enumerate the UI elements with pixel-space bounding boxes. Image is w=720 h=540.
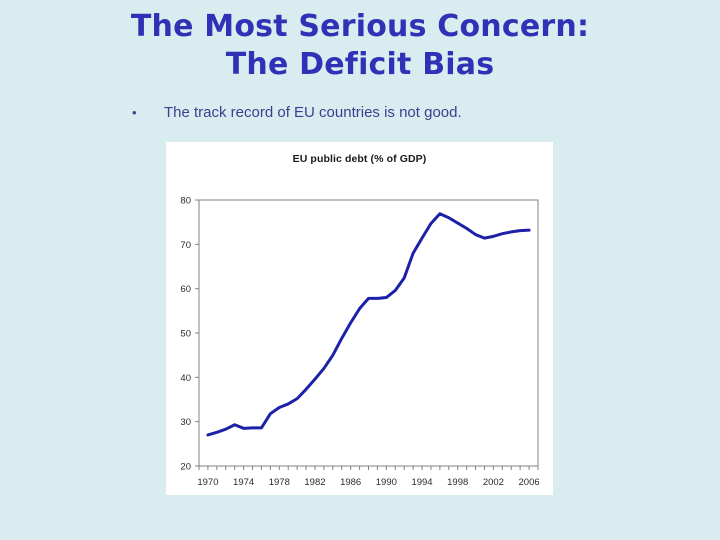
x-axis-tick-label: 1978 [269,477,290,488]
y-axis-tick-label: 60 [180,284,191,295]
data-series-line [208,214,529,435]
slide: The Most Serious Concern: The Deficit Bi… [0,0,720,540]
x-axis-tick-label: 1986 [340,477,361,488]
x-axis-tick-label: 1990 [376,477,397,488]
bullet-item-label: The track record of EU countries is not … [164,104,602,121]
y-axis-tick-label: 30 [180,417,191,428]
x-axis-tick-label: 1970 [197,477,218,488]
y-axis-tick-label: 50 [180,329,191,340]
line-chart-svg: 2030405060708019701974197819821986199019… [166,142,553,495]
y-axis-tick-label: 80 [180,196,191,207]
x-axis-tick-label: 2006 [519,477,540,488]
bullet-marker-icon: • [132,105,164,120]
y-axis-tick-label: 40 [180,373,191,384]
chart-panel: EU public debt (% of GDP) 20304050607080… [166,142,553,495]
x-axis-tick-label: 2002 [483,477,504,488]
page-title-line-1: The Most Serious Concern: [0,8,720,46]
x-axis-tick-label: 1982 [304,477,325,488]
y-axis-tick-label: 20 [180,462,191,473]
page-title-line-2: The Deficit Bias [0,46,720,84]
y-axis-tick-label: 70 [180,240,191,251]
x-axis-tick-label: 1998 [447,477,468,488]
x-axis-tick-label: 1974 [233,477,254,488]
chart-plot-area: 2030405060708019701974197819821986199019… [166,142,553,495]
page-title: The Most Serious Concern: The Deficit Bi… [0,8,720,84]
x-axis-tick-label: 1994 [411,477,432,488]
bullet-list-item: • The track record of EU countries is no… [132,104,602,121]
